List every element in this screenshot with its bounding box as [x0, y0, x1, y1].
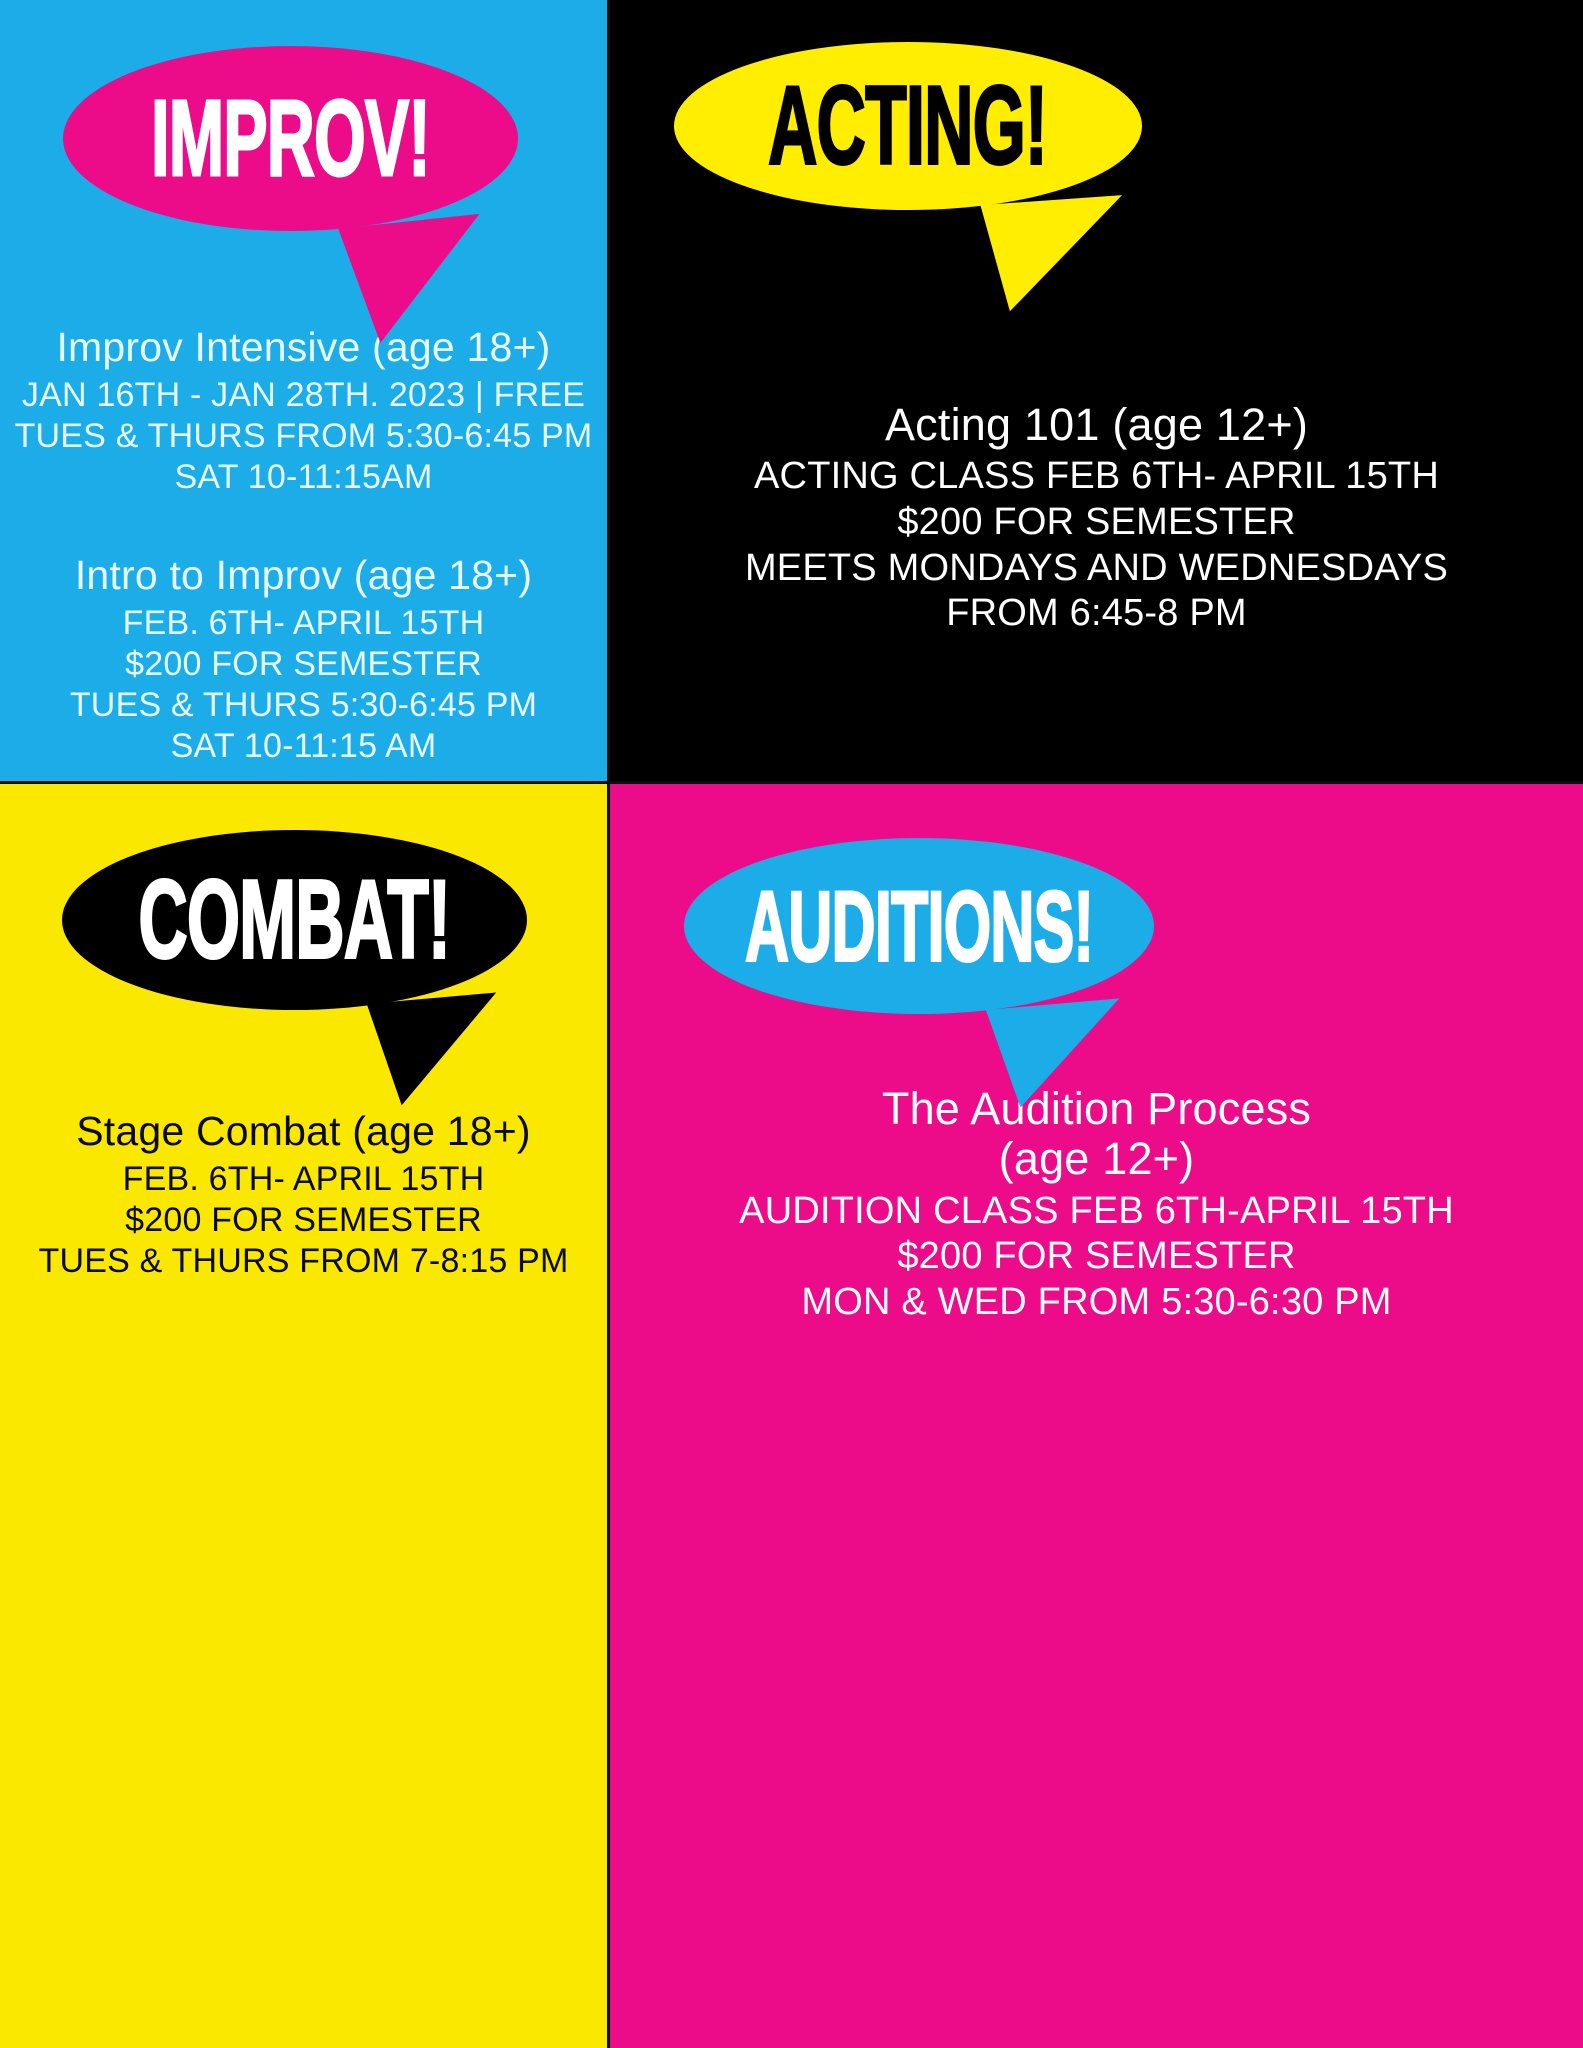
course-improv-intensive: Improv Intensive (age 18+) JAN 16TH - JA… — [14, 325, 593, 497]
course-line: SAT 10-11:15AM — [14, 457, 593, 498]
course-line: AUDITION CLASS FEB 6TH-APRIL 15TH — [624, 1189, 1569, 1235]
bubble-tail-acting — [980, 195, 1129, 313]
course-title: Intro to Improv (age 18+) — [14, 553, 593, 599]
course-line: $200 FOR SEMESTER — [624, 1234, 1569, 1280]
course-line: FEB. 6TH- APRIL 15TH — [14, 603, 593, 644]
bubble-body-improv: IMPROV! — [63, 46, 518, 231]
bubble-body-acting: ACTING! — [674, 42, 1142, 210]
course-line: FROM 6:45-8 PM — [624, 591, 1569, 637]
bubble-tail-auditions — [986, 998, 1128, 1109]
course-line: FEB. 6TH- APRIL 15TH — [14, 1159, 593, 1200]
course-line: TUES & THURS FROM 5:30-6:45 PM — [14, 416, 593, 457]
course-audition-process: The Audition Process(age 12+) AUDITION C… — [624, 1084, 1569, 1326]
panel-auditions-copy: The Audition Process(age 12+) AUDITION C… — [610, 1084, 1583, 1326]
class-schedule-poster: IMPROV! Improv Intensive (age 18+) JAN 1… — [0, 0, 1583, 2048]
bubble-body-combat: COMBAT! — [62, 830, 527, 1010]
course-acting-101: Acting 101 (age 12+) ACTING CLASS FEB 6T… — [624, 400, 1569, 637]
course-line: $200 FOR SEMESTER — [14, 644, 593, 685]
course-stage-combat: Stage Combat (age 18+) FEB. 6TH- APRIL 1… — [14, 1109, 593, 1281]
course-line: $200 FOR SEMESTER — [14, 1200, 593, 1241]
speech-bubble-acting: ACTING! — [674, 42, 1142, 210]
bubble-label-improv: IMPROV! — [151, 85, 430, 193]
panel-combat: COMBAT! Stage Combat (age 18+) FEB. 6TH-… — [0, 781, 607, 2048]
course-line: JAN 16TH - JAN 28TH. 2023 | FREE — [14, 375, 593, 416]
bubble-tail-combat — [367, 993, 506, 1108]
course-line: $200 FOR SEMESTER — [624, 500, 1569, 546]
course-title: Improv Intensive (age 18+) — [14, 325, 593, 371]
speech-bubble-improv: IMPROV! — [63, 46, 518, 231]
bubble-body-auditions: AUDITIONS! — [684, 838, 1154, 1014]
panel-acting-copy: Acting 101 (age 12+) ACTING CLASS FEB 6T… — [610, 400, 1583, 637]
bubble-label-auditions: AUDITIONS! — [745, 877, 1093, 976]
panel-improv-copy: Improv Intensive (age 18+) JAN 16TH - JA… — [0, 325, 607, 766]
bubble-label-combat: COMBAT! — [139, 865, 451, 976]
speech-bubble-auditions: AUDITIONS! — [684, 838, 1154, 1014]
panel-combat-copy: Stage Combat (age 18+) FEB. 6TH- APRIL 1… — [0, 1109, 607, 1281]
speech-bubble-combat: COMBAT! — [62, 830, 527, 1010]
bubble-tail-improv — [338, 214, 492, 346]
course-line: MON & WED FROM 5:30-6:30 PM — [624, 1280, 1569, 1326]
bubble-label-acting: ACTING! — [769, 71, 1048, 182]
panel-improv: IMPROV! Improv Intensive (age 18+) JAN 1… — [0, 0, 607, 781]
course-line: TUES & THURS 5:30-6:45 PM — [14, 685, 593, 726]
panel-acting: ACTING! Acting 101 (age 12+) ACTING CLAS… — [607, 0, 1583, 781]
panel-auditions: AUDITIONS! The Audition Process(age 12+)… — [607, 781, 1583, 2048]
course-line: MEETS MONDAYS AND WEDNESDAYS — [624, 546, 1569, 592]
course-title: Stage Combat (age 18+) — [14, 1109, 593, 1155]
course-intro-to-improv: Intro to Improv (age 18+) FEB. 6TH- APRI… — [14, 553, 593, 766]
course-line: SAT 10-11:15 AM — [14, 726, 593, 767]
course-title: Acting 101 (age 12+) — [624, 400, 1569, 450]
course-line: TUES & THURS FROM 7-8:15 PM — [14, 1241, 593, 1282]
course-line: ACTING CLASS FEB 6TH- APRIL 15TH — [624, 454, 1569, 500]
